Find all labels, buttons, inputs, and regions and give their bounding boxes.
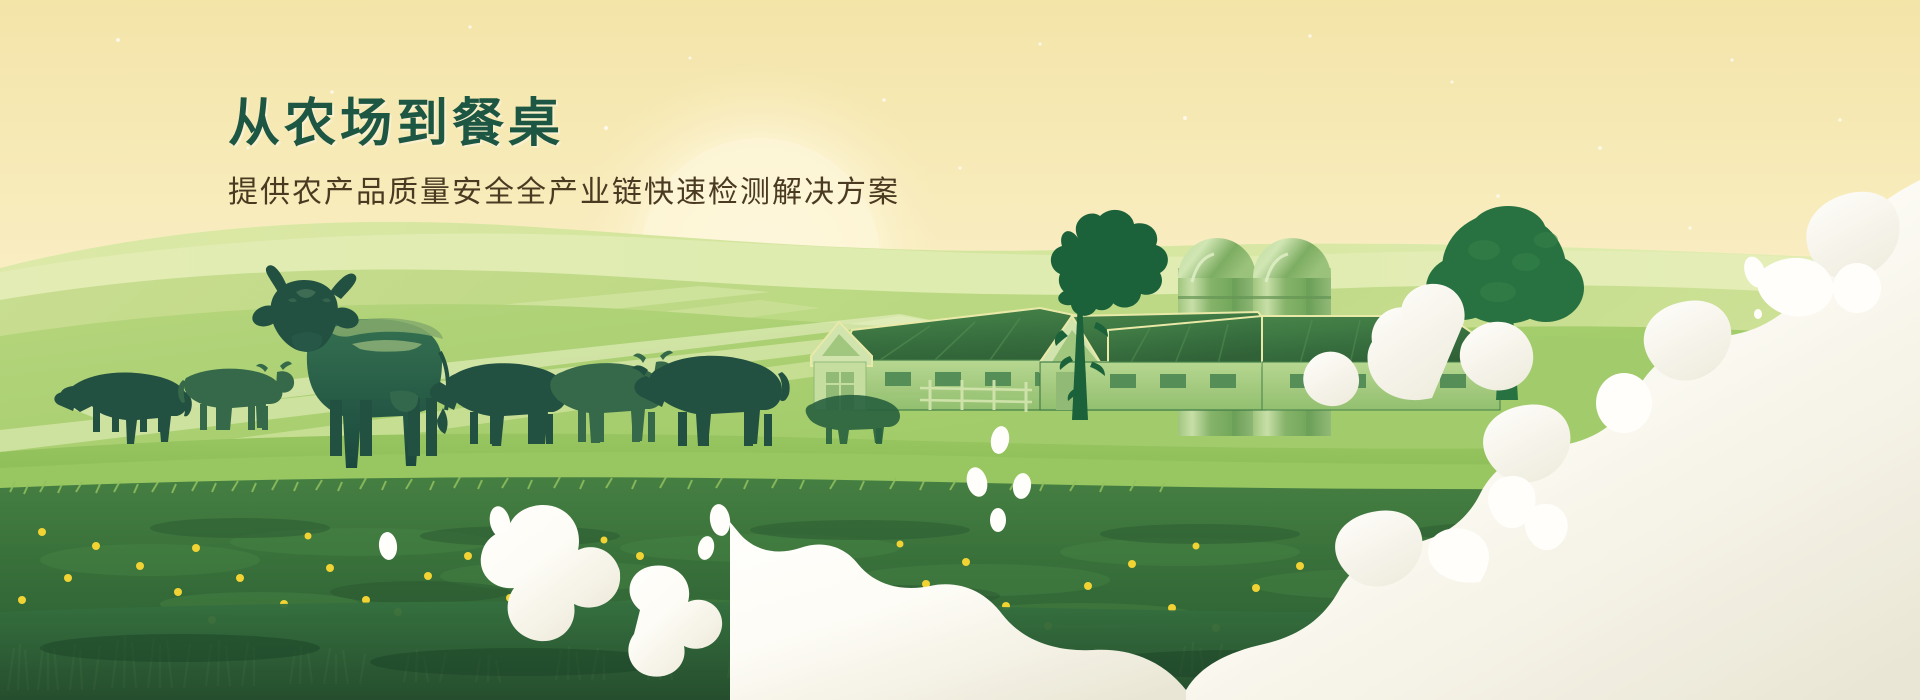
farm-to-table-hero-banner: 从农场到餐桌 提供农产品质量安全全产业链快速检测解决方案 [0,0,1920,700]
banner-headline: 从农场到餐桌 [228,96,1128,153]
banner-subtitle: 提供农产品质量安全全产业链快速检测解决方案 [228,175,1128,211]
banner-text-block: 从农场到餐桌 提供农产品质量安全全产业链快速检测解决方案 [228,96,1128,211]
